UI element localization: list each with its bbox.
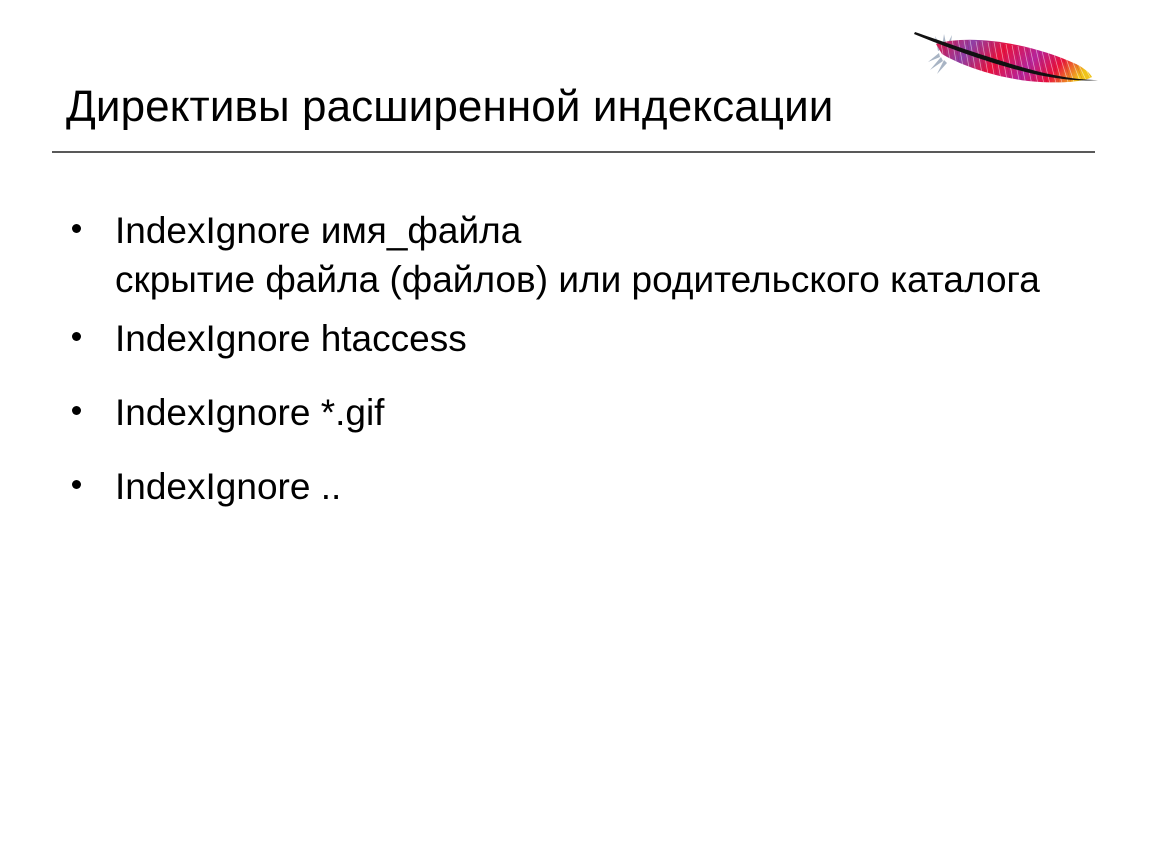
bullet-marker-icon	[72, 406, 81, 415]
title-area: Директивы расширенной индексации	[52, 76, 1096, 158]
page-title: Директивы расширенной индексации	[66, 76, 833, 138]
bullet-item-text: IndexIgnore ..	[115, 462, 1095, 511]
title-divider	[52, 151, 1095, 153]
list-item: IndexIgnore *.gif	[55, 388, 1095, 437]
bullet-item-text: IndexIgnore имя_файла скрытие файла (фай…	[115, 206, 1095, 304]
bullet-marker-icon	[72, 480, 81, 489]
slide: Директивы расширенной индексации IndexIg…	[0, 0, 1150, 864]
bullet-marker-icon	[72, 224, 81, 233]
list-item: IndexIgnore имя_файла скрытие файла (фай…	[55, 206, 1095, 304]
bullet-item-text: IndexIgnore htaccess	[115, 314, 1095, 363]
list-item: IndexIgnore htaccess	[55, 314, 1095, 363]
list-item: IndexIgnore ..	[55, 462, 1095, 511]
bullet-list: IndexIgnore имя_файла скрытие файла (фай…	[55, 206, 1095, 511]
bullet-marker-icon	[72, 332, 81, 341]
bullet-item-text: IndexIgnore *.gif	[115, 388, 1095, 437]
